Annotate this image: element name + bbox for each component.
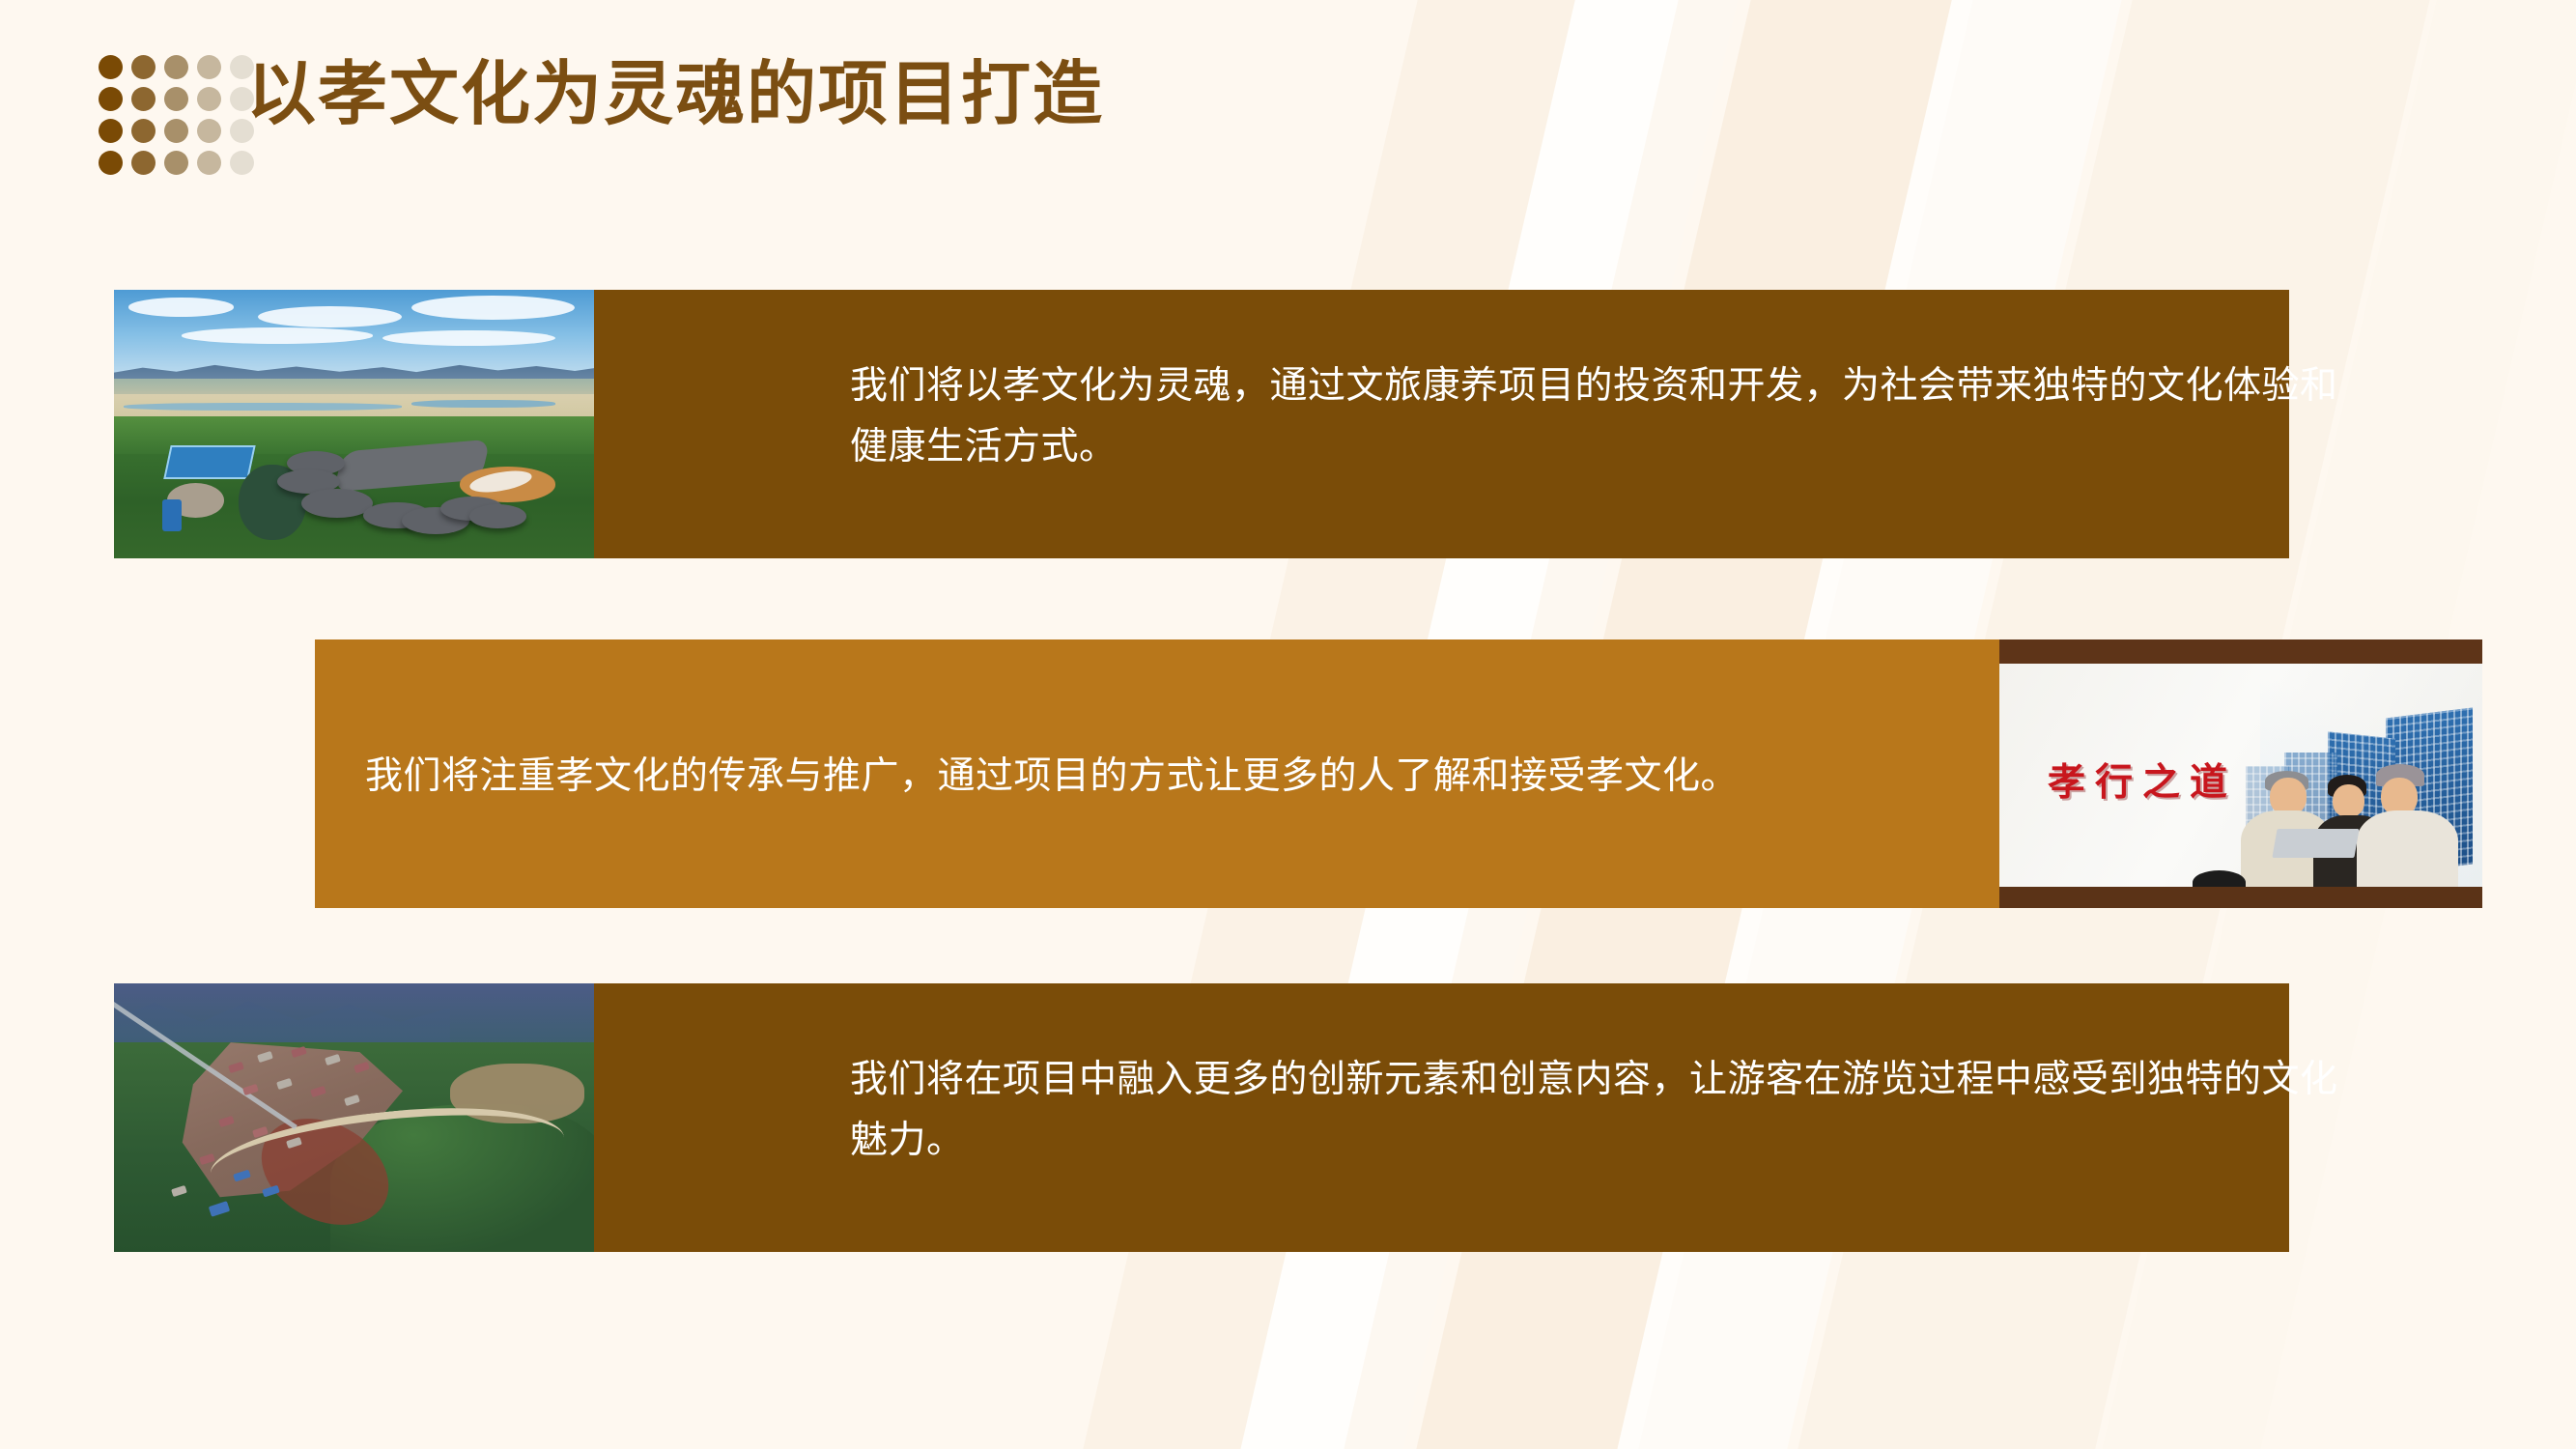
row-description-text: 我们将以孝文化为灵魂，通过文旅康养项目的投资和开发，为社会带来独特的文化体验和健… bbox=[850, 355, 2357, 477]
photo-person-head bbox=[2381, 778, 2418, 815]
grid-dot bbox=[99, 55, 123, 79]
aerial-mountain-village-photo bbox=[114, 983, 594, 1252]
aerial-resort-park-photo bbox=[114, 290, 594, 558]
content-row: 我们将注重孝文化的传承与推广，通过项目的方式让更多的人了解和接受孝文化。 bbox=[315, 639, 2482, 908]
grid-dot bbox=[197, 119, 221, 143]
grid-dot bbox=[197, 55, 221, 79]
grid-dot bbox=[99, 87, 123, 111]
photo-water bbox=[411, 400, 555, 408]
grid-dot bbox=[99, 151, 123, 175]
page-title: 以孝文化为灵魂的项目打造 bbox=[246, 60, 1104, 129]
grid-dot bbox=[99, 119, 123, 143]
grid-dot bbox=[197, 151, 221, 175]
content-row: 我们将在项目中融入更多的创新元素和创意内容，让游客在游览过程中感受到独特的文化魅… bbox=[114, 983, 2289, 1252]
grid-dot bbox=[131, 151, 156, 175]
photo-person-head bbox=[2333, 784, 2364, 818]
photo-person-body bbox=[2357, 810, 2458, 886]
content-bar: 我们将注重孝文化的传承与推广，通过项目的方式让更多的人了解和接受孝文化。 bbox=[315, 639, 1999, 908]
photo-water bbox=[124, 403, 402, 411]
content-row: 我们将以孝文化为灵魂，通过文旅康养项目的投资和开发，为社会带来独特的文化体验和健… bbox=[114, 290, 2289, 558]
photo-billboard: 孝行之道 bbox=[1999, 664, 2482, 887]
row-description-text: 我们将注重孝文化的传承与推广，通过项目的方式让更多的人了解和接受孝文化。 bbox=[365, 746, 1930, 807]
photo-laptop bbox=[2272, 829, 2359, 858]
content-bar: 我们将在项目中融入更多的创新元素和创意内容，让游客在游览过程中感受到独特的文化魅… bbox=[594, 983, 2289, 1252]
grid-dot bbox=[164, 87, 188, 111]
photo-person-head bbox=[2270, 778, 2307, 815]
photo-cloud bbox=[411, 296, 575, 320]
grid-dot bbox=[164, 151, 188, 175]
photo-cloud bbox=[128, 298, 234, 316]
content-bar: 我们将以孝文化为灵魂，通过文旅康养项目的投资和开发，为社会带来独特的文化体验和健… bbox=[594, 290, 2289, 558]
dot-grid-decoration bbox=[99, 55, 255, 176]
photo-caption: 孝行之道 bbox=[2048, 753, 2237, 807]
grid-dot bbox=[131, 119, 156, 143]
grid-dot bbox=[131, 55, 156, 79]
photo-tennis-courts bbox=[163, 445, 256, 479]
xiaoxing-zhidao-billboard-photo: 孝行之道 bbox=[1999, 639, 2482, 908]
photo-cloud bbox=[258, 306, 402, 327]
grid-dot bbox=[197, 87, 221, 111]
grid-dot bbox=[164, 119, 188, 143]
grid-dot bbox=[230, 151, 254, 175]
photo-wall-base bbox=[1999, 887, 2482, 908]
row-description-text: 我们将在项目中融入更多的创新元素和创意内容，让游客在游览过程中感受到独特的文化魅… bbox=[850, 1049, 2357, 1171]
photo-bus bbox=[162, 499, 182, 531]
grid-dot bbox=[131, 87, 156, 111]
photo-cloud bbox=[182, 327, 374, 344]
grid-dot bbox=[164, 55, 188, 79]
